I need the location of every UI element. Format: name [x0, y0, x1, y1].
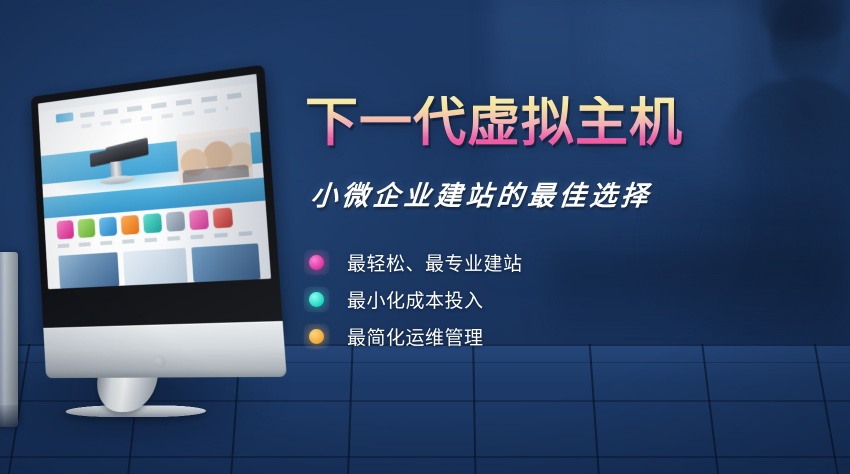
- monitor-body: [31, 65, 283, 334]
- site-thumbnail-row: [58, 243, 260, 288]
- magenta-dot-icon: [309, 255, 324, 270]
- page-subtitle: 小微企业建站的最佳选择: [309, 174, 726, 213]
- monitor-chin: [43, 321, 286, 378]
- floor-horizontal-line: [0, 456, 850, 458]
- hero-banner: 下一代虚拟主机 小微企业建站的最佳选择 最轻松、最专业建站 最小化成本投入 最简…: [0, 0, 850, 474]
- list-item: 最简化运维管理: [305, 318, 725, 355]
- orange-dot-icon: [309, 329, 324, 344]
- site-hero-people-photo: [176, 127, 253, 186]
- site-thumbnail: [123, 248, 188, 286]
- site-icon: [143, 213, 162, 233]
- teal-dot-icon: [309, 292, 324, 307]
- feature-label: 最轻松、最专业建站: [347, 249, 523, 276]
- feature-label: 最小化成本投入: [347, 286, 484, 313]
- list-item: 最小化成本投入: [305, 281, 725, 318]
- hero-copy: 下一代虚拟主机 小微企业建站的最佳选择 最轻松、最专业建站 最小化成本投入 最简…: [305, 96, 725, 355]
- site-thumbnail: [191, 243, 260, 282]
- site-logo: [56, 112, 74, 123]
- person-silhouette: [720, 0, 850, 216]
- list-item: 最轻松、最专业建站: [305, 244, 725, 281]
- site-icon: [166, 211, 186, 232]
- feature-label: 最简化运维管理: [347, 323, 484, 350]
- site-icon: [189, 209, 209, 230]
- monitor-screen: [38, 74, 271, 289]
- site-hero-device-base: [100, 174, 135, 185]
- page-title: 下一代虚拟主机: [305, 96, 725, 150]
- website-preview: [38, 74, 271, 289]
- site-icon: [77, 218, 95, 238]
- site-icon: [121, 215, 140, 235]
- monitor-bezel: [31, 65, 283, 334]
- imac-desktop-monitor: [6, 72, 290, 402]
- site-thumbnail: [58, 252, 119, 288]
- site-icon: [99, 217, 117, 237]
- site-hero-device-illustration: [89, 139, 158, 189]
- feature-list: 最轻松、最专业建站 最小化成本投入 最简化运维管理: [305, 244, 725, 355]
- site-icon: [213, 207, 233, 228]
- person-head: [770, 0, 842, 82]
- site-icon: [56, 220, 74, 240]
